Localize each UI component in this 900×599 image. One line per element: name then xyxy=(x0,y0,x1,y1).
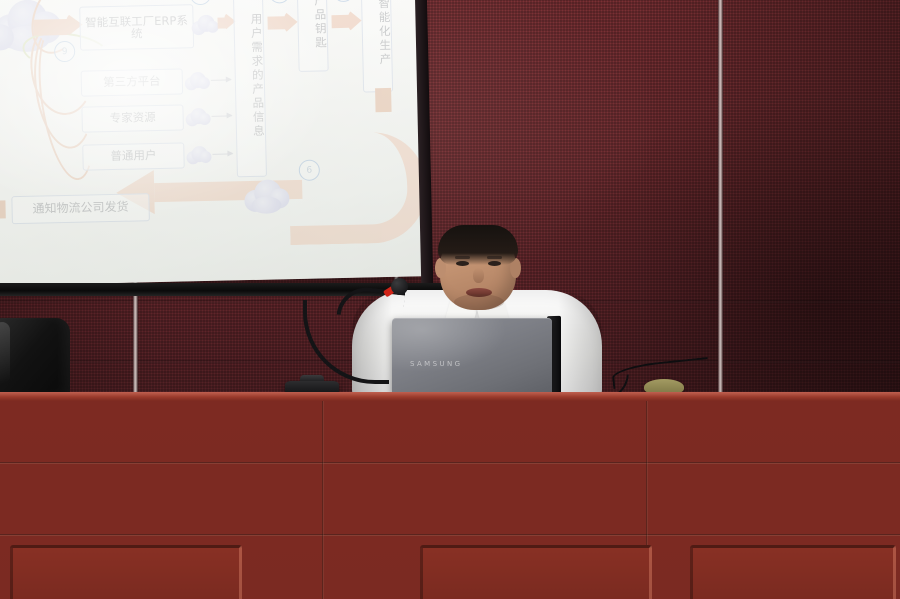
presenter-eye-right xyxy=(488,261,501,266)
laptop-lid-sheen xyxy=(392,318,552,394)
slide-node-demand-label: 用户需求的产品信息 xyxy=(249,13,265,139)
slide-node-smart-manufacturing-label: 智能化生产 xyxy=(377,0,392,67)
slide-node-product-key: 产品钥匙 xyxy=(296,0,328,72)
podium-seam xyxy=(0,462,900,464)
slide-node-platform: 第三方平台 xyxy=(81,68,184,96)
slide-node-logistics: 通知物流公司发货 xyxy=(11,193,150,224)
step-circle-3: 3 xyxy=(190,0,211,5)
slide-node-experts: 专家资源 xyxy=(81,104,184,132)
laptop-brand-label: SAMSUNG xyxy=(410,360,462,368)
slide-node-erp: 智能互联工厂ERP系统 xyxy=(79,4,194,50)
black-leather-chair xyxy=(0,318,70,400)
presenter-nose xyxy=(473,268,484,283)
presenter-eye-left xyxy=(456,261,469,266)
podium-recessed-panel xyxy=(420,545,652,599)
slide-node-smart-manufacturing: 智能化生产 xyxy=(360,0,393,93)
podium-recessed-panel xyxy=(690,545,896,599)
arrow-right-icon xyxy=(212,115,232,117)
arrow-right-icon xyxy=(212,153,232,155)
slide-node-logistics-label: 通知物流公司发货 xyxy=(32,201,128,217)
orange-connector-chip xyxy=(375,88,392,112)
step-circle-4: 4 xyxy=(269,0,290,4)
cloud-icon xyxy=(189,14,219,37)
podium-top-edge xyxy=(0,392,900,401)
step-circle-5: 5 xyxy=(333,0,354,2)
microphone-head[interactable] xyxy=(391,278,408,295)
slide-node-users: 普通用户 xyxy=(82,142,185,170)
arrow-right-icon xyxy=(211,79,231,81)
presenter-chin-shadow xyxy=(454,294,504,310)
presenter-eyebrow-left xyxy=(455,256,470,259)
presenter-hair xyxy=(438,225,518,265)
podium-vertical-seam xyxy=(322,401,324,599)
orange-connector-chip xyxy=(0,200,6,218)
cloud-icon xyxy=(183,107,211,128)
conference-presentation-scene: 智能互联工厂ERP系统 9 第三方平台 xyxy=(0,0,900,599)
slide-node-experts-label: 专家资源 xyxy=(110,111,156,125)
slide-node-users-label: 普通用户 xyxy=(110,149,156,163)
slide-node-product-key-label: 产品钥匙 xyxy=(313,0,327,51)
laptop-lid: SAMSUNG xyxy=(392,318,552,394)
cloud-icon xyxy=(241,178,292,217)
slide-node-erp-label: 智能互联工厂ERP系统 xyxy=(82,14,191,40)
presenter-eyebrow-right xyxy=(487,256,502,259)
cloud-icon xyxy=(184,145,212,166)
podium-recessed-panel xyxy=(10,545,242,599)
slide-node-demand: 用户需求的产品信息 xyxy=(232,0,266,177)
laptop[interactable]: SAMSUNG xyxy=(392,318,560,396)
chair-highlight xyxy=(0,322,10,384)
wall-trim-strip xyxy=(718,0,723,420)
cloud-icon xyxy=(183,71,211,92)
podium-seam xyxy=(0,534,900,536)
slide-node-platform-label: 第三方平台 xyxy=(103,75,161,89)
